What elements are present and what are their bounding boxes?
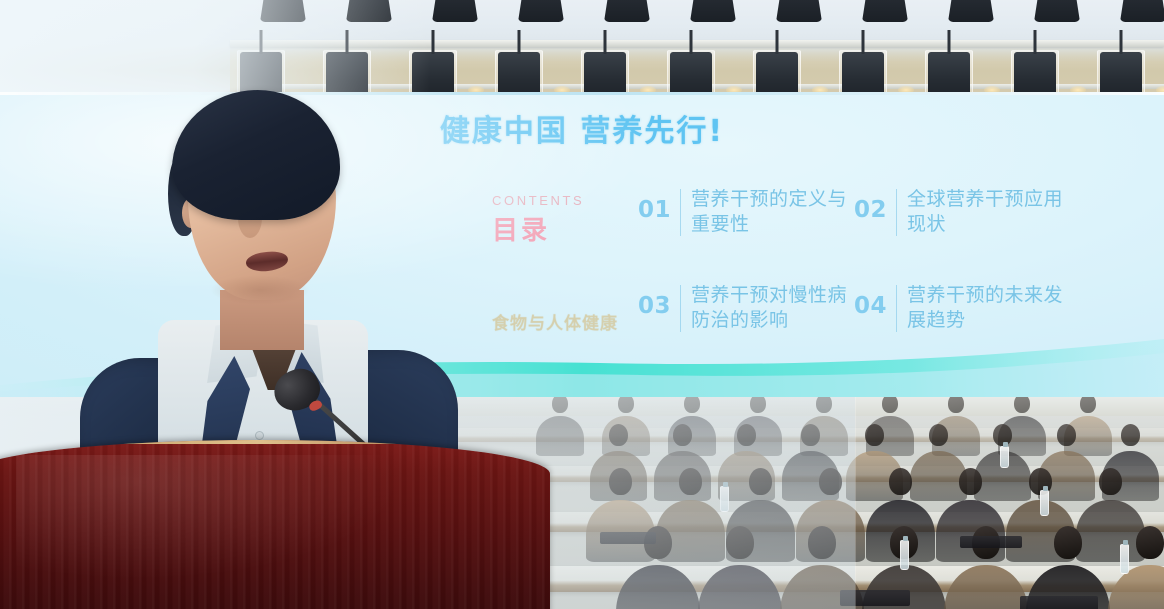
audience-laptop-1	[840, 590, 910, 606]
audience-head-r3-8	[1099, 468, 1122, 495]
audience-head-r4-3	[808, 526, 836, 559]
audience-laptop-2	[1020, 596, 1098, 609]
toc-item-04: 04 营养干预的未来发展趋势	[854, 283, 1070, 334]
audience-head-r3-1	[609, 468, 632, 495]
toc-item-01: 01 营养干预的定义与重要性	[638, 187, 854, 238]
toc-number-03: 03	[638, 283, 671, 319]
stage-light-upper-icon-11	[1120, 0, 1164, 22]
audience-head-r2-9	[1121, 424, 1140, 446]
toc-text-02: 全球营养干预应用现状	[907, 187, 1070, 238]
exposure-seam-line	[855, 390, 856, 609]
toc-item-02: 02 全球营养干预应用现状	[854, 187, 1070, 238]
water-bottle-3	[1040, 490, 1049, 516]
audience-head-r2-4	[801, 424, 820, 446]
stage-light-upper-icon-8	[862, 0, 908, 22]
audience-laptop-3	[600, 532, 656, 544]
toc-number-01: 01	[638, 187, 671, 223]
audience-head-r2-8	[1057, 424, 1076, 446]
audience-head-r2-6	[929, 424, 948, 446]
audience-head-r3-3	[749, 468, 772, 495]
water-bottle-2	[900, 540, 909, 570]
shirt-button-1	[256, 432, 263, 439]
audience-person-r3-8	[1076, 500, 1145, 562]
audience-head-r3-4	[819, 468, 842, 495]
screenshot-root: 健康中国 营养先行! CONTENTS 目录 01 营养干预的定义与重要性 02…	[0, 0, 1164, 609]
water-bottle-4	[1120, 544, 1129, 574]
water-bottle-5	[1000, 446, 1009, 468]
audience-head-r4-7	[1136, 526, 1164, 559]
toc-divider-02	[896, 189, 897, 236]
toc-divider-01	[680, 189, 681, 236]
audience-laptop-4	[960, 536, 1022, 548]
podium-sheen	[16, 455, 422, 588]
audience-head-r2-3	[737, 424, 756, 446]
stage-light-upper-icon-7	[776, 0, 822, 22]
chin-shadow	[210, 275, 310, 305]
stage-light-upper-icon-4	[518, 0, 564, 22]
audience-head-r2-1	[609, 424, 628, 446]
toc-item-03: 03 营养干预对慢性病防治的影响	[638, 283, 854, 334]
audience-head-r3-5	[889, 468, 912, 495]
audience-person-r2-6	[910, 451, 967, 501]
toc-divider-04	[896, 285, 897, 332]
audience-head-r3-6	[959, 468, 982, 495]
toc-text-04: 营养干预的未来发展趋势	[907, 283, 1070, 334]
audience-head-r4-6	[1054, 526, 1082, 559]
audience-head-r2-5	[865, 424, 884, 446]
toc-text-01: 营养干预的定义与重要性	[691, 187, 854, 238]
toc-row-2: 食物与人体健康 03 营养干预对慢性病防治的影响 04 营养干预的未来发展趋势	[492, 283, 1092, 334]
stage-light-upper-icon-6	[690, 0, 736, 22]
audience-head-r3-2	[679, 468, 702, 495]
audience-head-r2-2	[673, 424, 692, 446]
audience-head-r2-7	[993, 424, 1012, 446]
toc-divider-03	[680, 285, 681, 332]
toc-number-04: 04	[854, 283, 887, 319]
podium-gold-trim	[0, 440, 550, 444]
hair	[172, 90, 340, 220]
stage-light-upper-icon-9	[948, 0, 994, 22]
stage-light-upper-icon-10	[1034, 0, 1080, 22]
podium	[0, 440, 550, 609]
toc-number-02: 02	[854, 187, 887, 223]
toc-text-03: 营养干预对慢性病防治的影响	[691, 283, 854, 334]
audience-head-r4-2	[726, 526, 754, 559]
stage-light-upper-icon-5	[604, 0, 650, 22]
stage-light-upper-icon-3	[432, 0, 478, 22]
slide-watermark-text: 食物与人体健康	[492, 283, 638, 334]
water-bottle-1	[720, 486, 729, 512]
